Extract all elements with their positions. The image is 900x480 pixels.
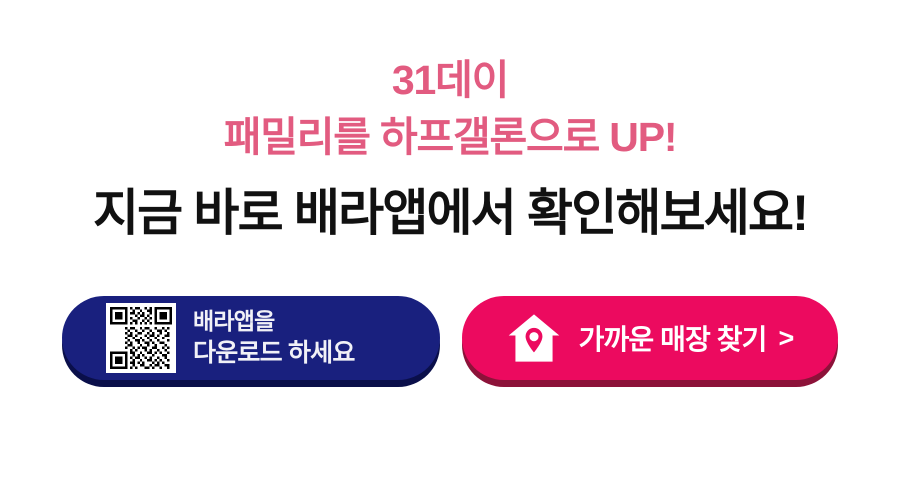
qr-code-icon bbox=[106, 303, 176, 373]
cta-button-row: 배라앱을 다운로드 하세요 가까운 매장 찾기 > bbox=[62, 296, 838, 388]
promo-subline-1: 31데이 bbox=[0, 52, 900, 109]
store-finder-label-wrap: 가까운 매장 찾기 > bbox=[579, 318, 794, 358]
app-download-label-line2: 다운로드 하세요 bbox=[193, 339, 355, 367]
app-download-label-line1: 배라앱을 bbox=[193, 308, 274, 334]
store-location-house-icon bbox=[507, 311, 561, 365]
app-download-button[interactable]: 배라앱을 다운로드 하세요 bbox=[62, 296, 440, 380]
promo-banner: 31데이 패밀리를 하프갤론으로 UP! 지금 바로 배라앱에서 확인해보세요! bbox=[0, 0, 900, 480]
headline-block: 31데이 패밀리를 하프갤론으로 UP! 지금 바로 배라앱에서 확인해보세요! bbox=[0, 52, 900, 243]
app-download-label: 배라앱을 다운로드 하세요 bbox=[193, 307, 355, 369]
store-finder-label: 가까운 매장 찾기 bbox=[579, 318, 767, 358]
promo-subline-2: 패밀리를 하프갤론으로 UP! bbox=[0, 109, 900, 166]
store-finder-button[interactable]: 가까운 매장 찾기 > bbox=[462, 296, 838, 380]
chevron-right-icon: > bbox=[778, 325, 793, 352]
promo-main-headline: 지금 바로 배라앱에서 확인해보세요! bbox=[0, 183, 900, 243]
